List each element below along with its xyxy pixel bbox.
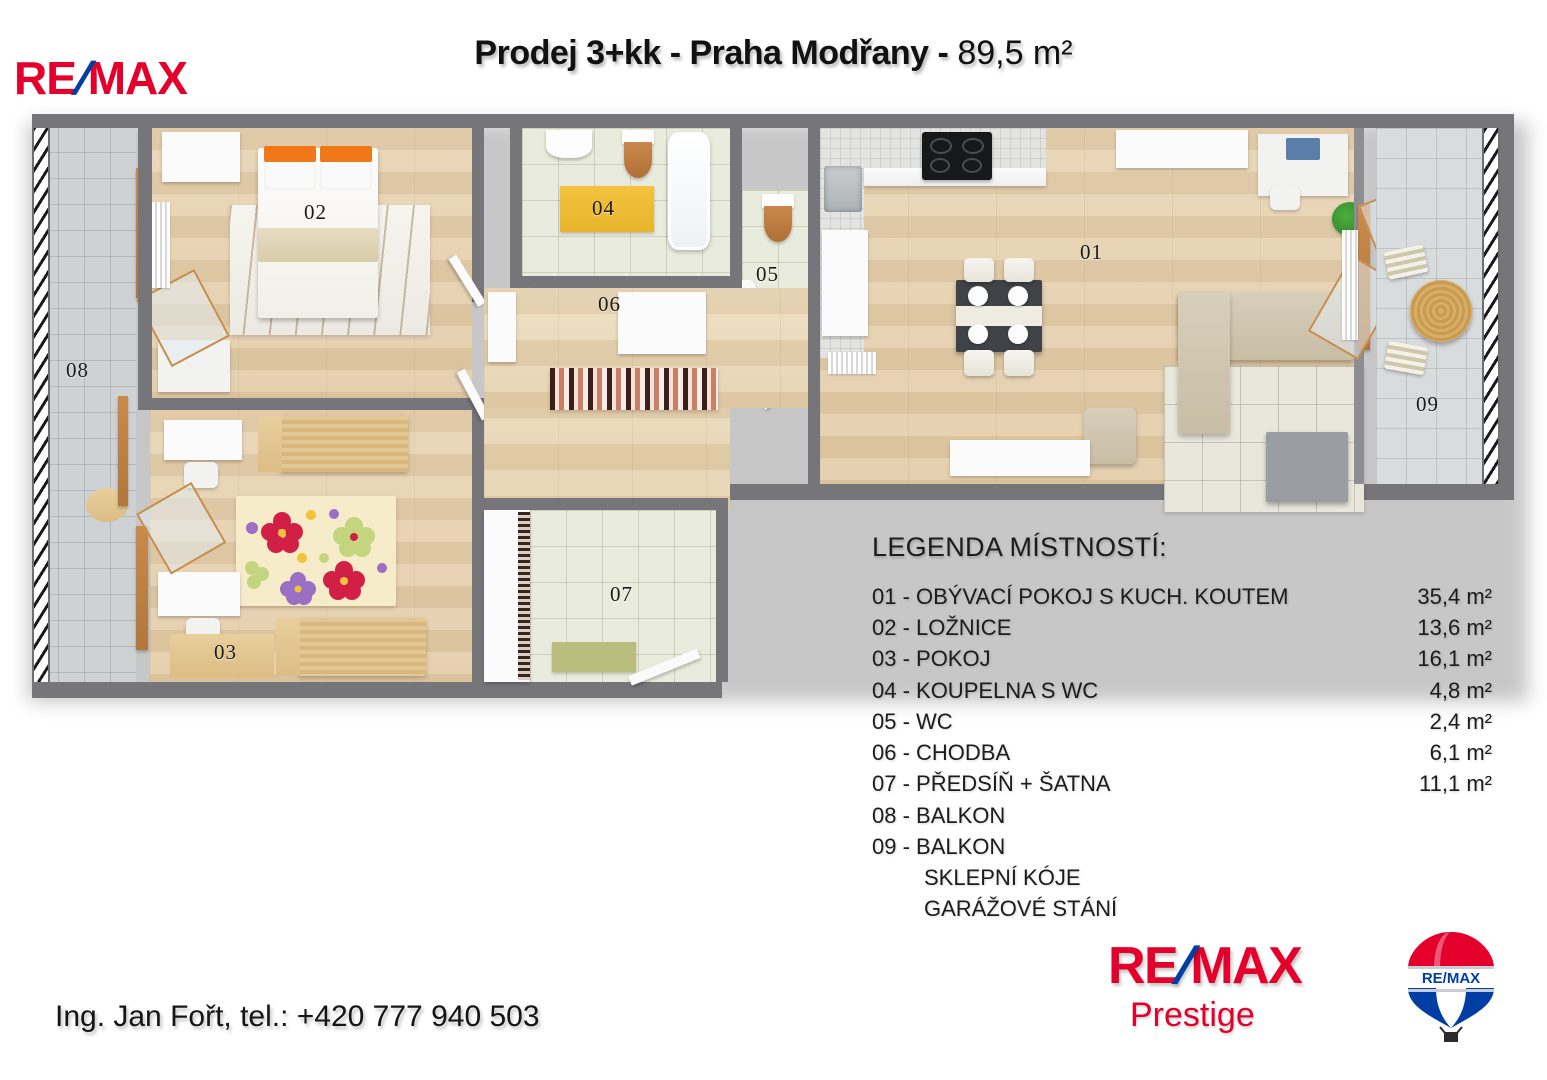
legend-title: LEGENDA MÍSTNOSTÍ: (872, 532, 1492, 563)
legend-extra-row: SKLEPNÍ KÓJE (872, 862, 1492, 893)
table-runner (956, 306, 1042, 326)
room-label-06: 06 (598, 292, 621, 317)
exterior-wall-right (1500, 114, 1514, 500)
legend-row: 05 - WC 2,4 m² (872, 706, 1492, 737)
room-label-09: 09 (1416, 392, 1439, 417)
legend-label: 09 - BALKON (872, 831, 1362, 862)
plate-1 (968, 286, 988, 306)
legend-row: 02 - LOŽNICE 13,6 m² (872, 612, 1492, 643)
tv-unit (1266, 432, 1348, 502)
living-room-console (950, 440, 1090, 476)
dining-table (956, 280, 1042, 352)
legend-label: 08 - BALKON (872, 800, 1362, 831)
room-03-bed-top-head (258, 416, 282, 472)
plate-4 (1008, 324, 1028, 344)
contact-info: Ing. Jan Fořt, tel.: +420 777 940 503 (55, 1000, 540, 1034)
svg-text:RE/MAX: RE/MAX (1422, 970, 1480, 987)
hallway-runner-rug (550, 368, 718, 410)
room-label-08: 08 (66, 358, 89, 383)
entrance-mat (552, 642, 636, 672)
balcony-table (1410, 280, 1472, 342)
room-03-bed-bottom-head (276, 618, 300, 676)
room-label-04: 04 (592, 196, 615, 221)
wall-07-top (484, 498, 728, 510)
page-title-area: 89,5 m² (957, 34, 1072, 72)
legend: LEGENDA MÍSTNOSTÍ: 01 - OBÝVACÍ POKOJ S … (872, 532, 1492, 925)
bathtub (668, 132, 710, 250)
wall-01-left (808, 128, 820, 484)
hallway-washer (618, 292, 706, 354)
legend-area: 35,4 m² (1362, 581, 1492, 612)
room-label-05: 05 (756, 262, 779, 287)
burner-2 (962, 138, 984, 154)
armchair (1084, 408, 1136, 464)
legend-row: 01 - OBÝVACÍ POKOJ S KUCH. KOUTEM 35,4 m… (872, 581, 1492, 612)
exterior-wall-bottom-left (32, 682, 722, 698)
sectional-sofa-chaise (1178, 292, 1230, 434)
legend-label: 01 - OBÝVACÍ POKOJ S KUCH. KOUTEM (872, 581, 1362, 612)
wall-room03-right (472, 410, 484, 682)
plate-3 (968, 324, 988, 344)
wall-bedroom-bottom (138, 398, 484, 410)
legend-extra-label: GARÁŽOVÉ STÁNÍ (924, 893, 1492, 924)
living-room-radiator-left (828, 352, 876, 374)
wall-bedroom-right (472, 128, 484, 302)
dining-chair-4 (1004, 350, 1034, 376)
wardrobe-07-shelves (518, 512, 530, 680)
wc-seat (764, 206, 792, 242)
legend-area: 6,1 m² (1362, 737, 1492, 768)
kitchen-fridge (822, 230, 868, 336)
legend-area: 4,8 m² (1362, 675, 1492, 706)
prestige-remax-word: RE/MAX (1108, 940, 1301, 992)
bathroom-wc-seat (624, 142, 652, 178)
legend-label: 02 - LOŽNICE (872, 612, 1362, 643)
wall-left-interior (138, 128, 152, 410)
plate-2 (1008, 286, 1028, 306)
room-label-07: 07 (610, 582, 633, 607)
legend-area: 16,1 m² (1362, 643, 1492, 674)
hallway-cabinet (488, 292, 516, 362)
legend-area: 2,4 m² (1362, 706, 1492, 737)
wall-07-right (716, 498, 728, 682)
legend-area: 11,1 m² (1362, 768, 1492, 799)
bathroom-sink (546, 130, 592, 158)
legend-extra-label: SKLEPNÍ KÓJE (924, 862, 1492, 893)
burner-3 (930, 158, 950, 173)
room-03-bed-top (280, 416, 408, 472)
living-room-radiator-right (1342, 230, 1358, 340)
balloon-icon: RE/MAX (1396, 928, 1506, 1048)
prestige-subtitle: Prestige (1130, 998, 1255, 1032)
wall-04-bottom (510, 276, 742, 288)
burner-4 (962, 158, 982, 173)
desk-chair (1270, 186, 1300, 210)
bed-cushion-left (264, 146, 316, 162)
room-03-desk-top (164, 420, 242, 460)
burner-1 (930, 138, 952, 154)
prestige-logo-re: RE (1108, 937, 1177, 995)
room-03-bed-bottom (298, 618, 426, 676)
room-03-desk-bottom (158, 572, 240, 616)
legend-label: 06 - CHODBA (872, 737, 1362, 768)
page-title-main: Prodej 3+kk - Praha Modřany - (474, 34, 957, 72)
wall-04-left (510, 128, 522, 276)
exterior-wall-top (32, 114, 1514, 128)
legend-label: 07 - PŘEDSÍŇ + ŠATNA (872, 768, 1362, 799)
prestige-logo-max: MAX (1190, 937, 1301, 995)
kitchen-cooktop (922, 132, 992, 180)
legend-label: 03 - POKOJ (872, 643, 1362, 674)
flower-rug-motifs (236, 496, 396, 606)
balcony-08-rail-post (118, 396, 128, 506)
legend-label: 05 - WC (872, 706, 1362, 737)
exterior-wall-bottom-right (708, 484, 1514, 500)
legend-row: 04 - KOUPELNA S WC 4,8 m² (872, 675, 1492, 706)
balcony-08-railing (32, 126, 50, 696)
bedroom-radiator (152, 202, 170, 288)
legend-label: 04 - KOUPELNA S WC (872, 675, 1362, 706)
dining-chair-2 (1004, 258, 1034, 282)
legend-row: 03 - POKOJ 16,1 m² (872, 643, 1492, 674)
legend-row: 09 - BALKON (872, 831, 1492, 862)
kitchen-sink (824, 166, 862, 212)
legend-row: 07 - PŘEDSÍŇ + ŠATNA 11,1 m² (872, 768, 1492, 799)
bed-cushion-right (320, 146, 372, 162)
room-label-03: 03 (214, 640, 237, 665)
bed-blanket (258, 228, 378, 262)
legend-area: 13,6 m² (1362, 612, 1492, 643)
room-03-window-frame (136, 526, 148, 650)
room-label-01: 01 (1080, 240, 1103, 265)
kitchen-upper-unit (1116, 130, 1248, 168)
legend-extra-row: GARÁŽOVÉ STÁNÍ (872, 893, 1492, 924)
dining-chair-1 (964, 258, 994, 282)
desk-monitor (1286, 138, 1320, 160)
remax-prestige-logo: RE/MAX Prestige RE/MAX (1108, 940, 1508, 1050)
bedroom-wardrobe-top (162, 132, 240, 182)
balcony-09-railing (1482, 128, 1500, 484)
dining-chair-3 (964, 350, 994, 376)
page-title: Prodej 3+kk - Praha Modřany - 89,5 m² (0, 36, 1547, 70)
floorplan-page: RE/MAX Prodej 3+kk - Praha Modřany - 89,… (0, 0, 1547, 1080)
legend-row: 08 - BALKON (872, 800, 1492, 831)
legend-row: 06 - CHODBA 6,1 m² (872, 737, 1492, 768)
room-label-02: 02 (304, 200, 327, 225)
